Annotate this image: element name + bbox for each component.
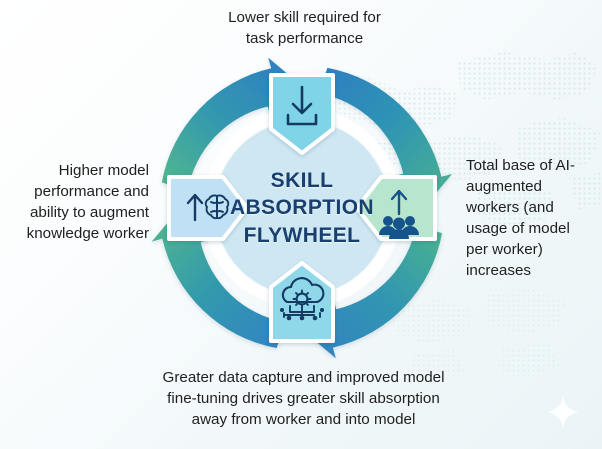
stage-label-higher-model-performance: Higher model performance and ability to … (6, 161, 149, 245)
stage-label-lower-skill: Lower skill required for task performanc… (182, 8, 427, 50)
flywheel-ring: SKILL ABSORPTION FLYWHEEL (151, 57, 453, 359)
sparkle-icon (546, 395, 580, 429)
flywheel-diagram-canvas: SKILL ABSORPTION FLYWHEEL Lower skill re… (0, 0, 602, 449)
stage-label-data-capture: Greater data capture and improved model … (126, 368, 481, 431)
stage-label-total-base: Total base of AI- augmented workers (and… (466, 156, 598, 282)
